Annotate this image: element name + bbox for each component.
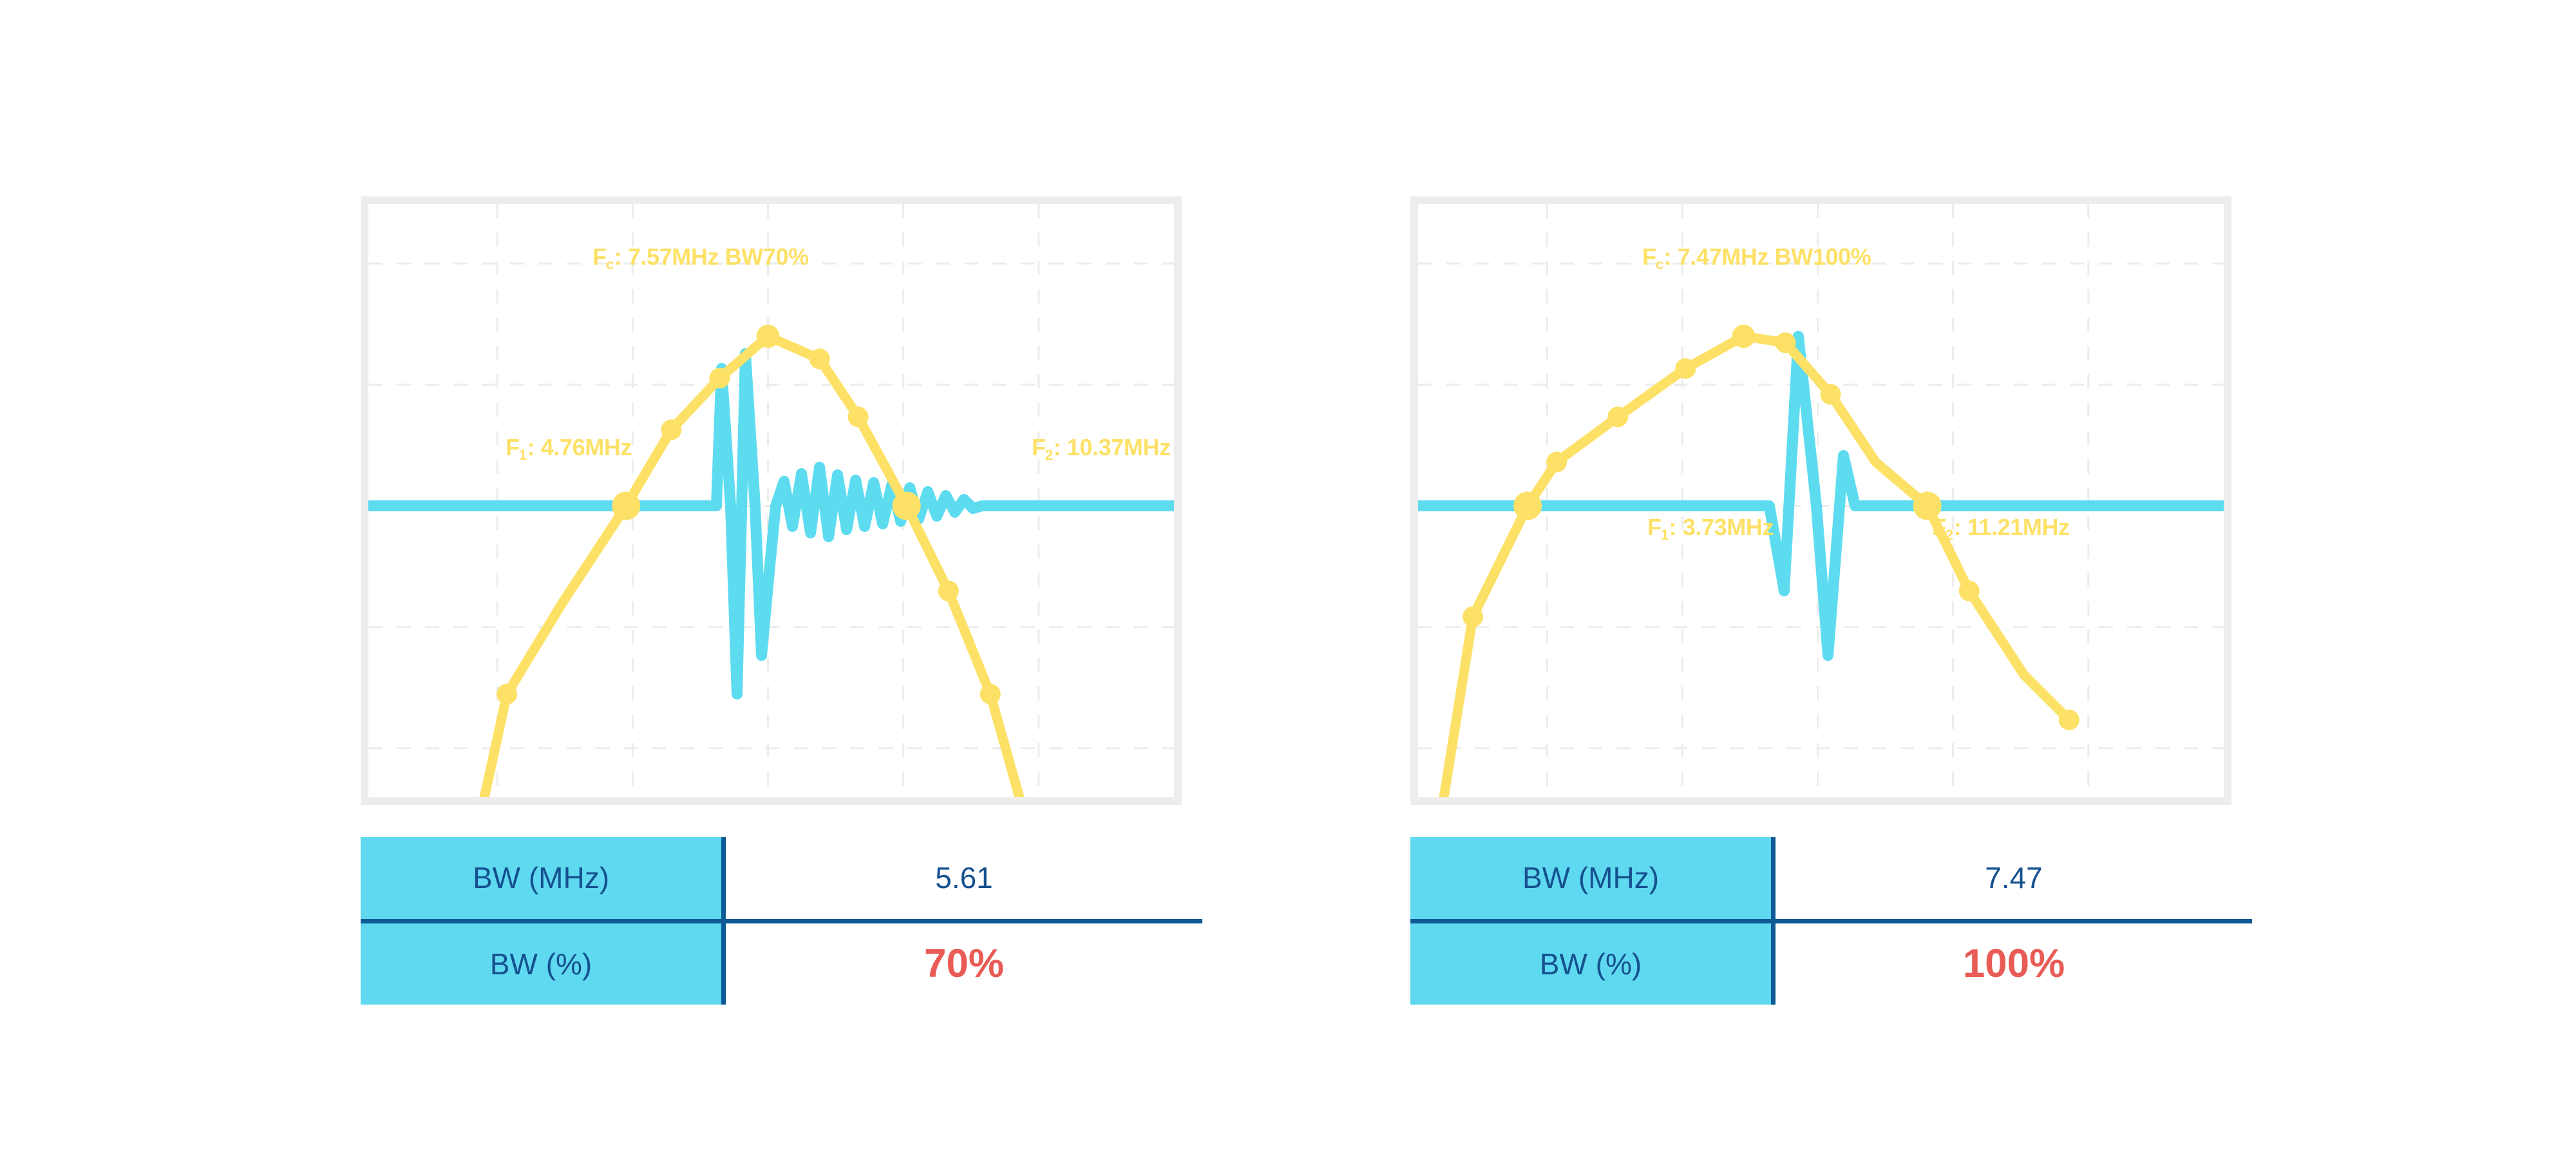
annotation-upper-text: : 11.21MHz <box>1954 514 2070 540</box>
table-row: BW (MHz) 7.47 <box>1410 837 2252 921</box>
table-row: BW (MHz) 5.61 <box>361 837 1202 921</box>
annotation-upper-prefix: F <box>1932 514 1946 540</box>
annotation-lower-subscript: 1 <box>519 447 527 463</box>
chart-svg-left <box>368 204 1174 797</box>
annotation-center-text: : 7.57MHz BW70% <box>614 243 809 270</box>
panel-left: Fc: 7.57MHz BW70% F1: 4.76MHz F2: 10.37M… <box>213 0 1372 1154</box>
chart-frame-right <box>1410 196 2231 805</box>
annotation-center-subscript: c <box>1656 256 1663 272</box>
table-header-bw-mhz: BW (MHz) <box>361 837 724 921</box>
annotation-upper-subscript: 2 <box>1045 447 1053 463</box>
annotation-lower-prefix: F <box>506 434 520 460</box>
table-header-bw-percent: BW (%) <box>1410 921 1774 1005</box>
table-value-bw-percent: 100% <box>1774 921 2253 1005</box>
annotation-upper-text: : 10.37MHz <box>1054 434 1171 460</box>
annotation-center-frequency: Fc: 7.57MHz BW70% <box>592 243 809 270</box>
annotation-lower-text: : 3.73MHz <box>1669 514 1774 540</box>
annotation-center-prefix: F <box>592 243 607 270</box>
table-row: BW (%) 100% <box>1410 921 2252 1005</box>
annotation-lower-subscript: 1 <box>1661 527 1669 543</box>
annotation-lower-text: : 4.76MHz <box>527 434 632 460</box>
table-value-bw-mhz: 5.61 <box>724 837 1203 921</box>
annotation-upper-frequency: F2: 11.21MHz <box>1932 514 2070 541</box>
annotation-center-prefix: F <box>1642 243 1656 270</box>
annotation-upper-frequency: F2: 10.37MHz <box>1032 434 1171 461</box>
waveform-line-left <box>368 354 1174 694</box>
panel-right: Fc: 7.47MHz BW100% F1: 3.73MHz F2: 11.21… <box>1262 0 2421 1154</box>
bandwidth-table-right: BW (MHz) 7.47 BW (%) 100% <box>1410 837 2252 1005</box>
annotation-lower-frequency: F1: 4.76MHz <box>506 434 632 461</box>
table-value-bw-mhz: 7.47 <box>1774 837 2253 921</box>
table-value-bw-percent: 70% <box>724 921 1203 1005</box>
annotation-lower-frequency: F1: 3.73MHz <box>1647 514 1774 541</box>
table-header-bw-mhz: BW (MHz) <box>1410 837 1774 921</box>
annotation-center-subscript: c <box>606 256 614 272</box>
table-header-bw-percent: BW (%) <box>361 921 724 1005</box>
bandwidth-table-left: BW (MHz) 5.61 BW (%) 70% <box>361 837 1202 1005</box>
table-row: BW (%) 70% <box>361 921 1202 1005</box>
chart-plot-area-left <box>368 204 1174 797</box>
annotation-lower-prefix: F <box>1647 514 1662 540</box>
annotation-upper-prefix: F <box>1032 434 1046 460</box>
chart-svg-right <box>1418 204 2224 797</box>
chart-frame-left <box>361 196 1182 805</box>
chart-plot-area-right <box>1418 204 2224 797</box>
annotation-upper-subscript: 2 <box>1946 527 1953 543</box>
annotation-center-text: : 7.47MHz BW100% <box>1664 243 1871 270</box>
spectrum-line-right <box>1444 336 2069 797</box>
annotation-center-frequency: Fc: 7.47MHz BW100% <box>1642 243 1871 270</box>
